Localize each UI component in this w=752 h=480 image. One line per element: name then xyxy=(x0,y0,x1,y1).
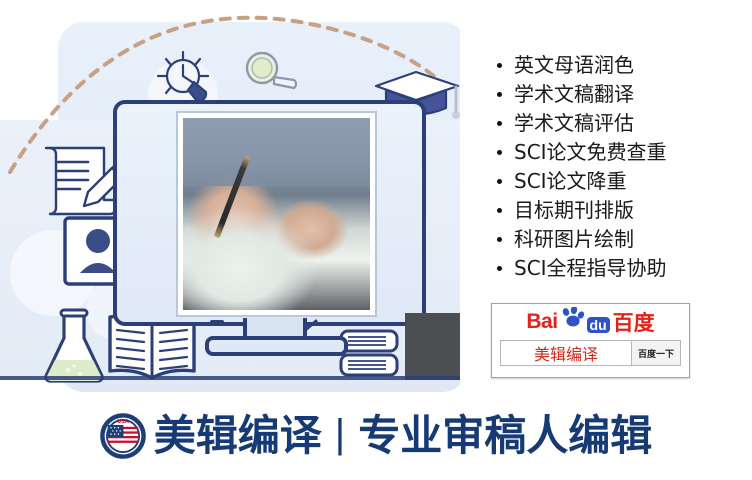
list-item: 科研图片绘制 xyxy=(497,226,747,252)
service-label: 英文母语润色 xyxy=(514,52,634,78)
baidu-logo: Bai du 百度 xyxy=(492,309,689,335)
baidu-logo-du: du xyxy=(587,317,610,333)
service-label: 科研图片绘制 xyxy=(514,226,634,252)
list-item: 目标期刊排版 xyxy=(497,197,747,223)
brand-tagline: 专业审稿人编辑 xyxy=(358,415,652,457)
bullet-icon xyxy=(497,150,502,155)
service-label: 目标期刊排版 xyxy=(514,197,634,223)
writing-hand-photo xyxy=(183,118,370,310)
services-list: 英文母语润色 学术文稿翻译 学术文稿评估 SCI论文免费查重 SCI论文降重 目… xyxy=(497,52,747,284)
list-item: 学术文稿翻译 xyxy=(497,81,747,107)
dark-accent-band xyxy=(405,313,460,380)
service-label: 学术文稿翻译 xyxy=(514,81,634,107)
list-item: SCI全程指导协助 xyxy=(497,255,747,281)
list-item: SCI论文免费查重 xyxy=(497,139,747,165)
list-item: 英文母语润色 xyxy=(497,52,747,78)
illustration-panel xyxy=(0,0,460,392)
floor-line xyxy=(0,376,460,380)
seal-label: USA xyxy=(117,419,129,425)
search-input[interactable]: 美辑编译 xyxy=(500,340,632,366)
bullet-icon xyxy=(497,237,502,242)
baidu-search-row: 美辑编译 百度一下 xyxy=(500,340,681,366)
flask-icon xyxy=(38,308,110,384)
photo-shirt xyxy=(178,114,375,186)
baidu-search-widget[interactable]: Bai du 百度 美辑编译 百度一下 xyxy=(491,303,690,378)
bullet-icon xyxy=(497,266,502,271)
brand-name: 美辑编译 xyxy=(154,415,322,457)
list-item: 学术文稿评估 xyxy=(497,110,747,136)
list-item: SCI论文降重 xyxy=(497,168,747,194)
bullet-icon xyxy=(497,92,502,97)
monitor-led xyxy=(210,320,224,324)
service-label: SCI论文免费查重 xyxy=(514,139,667,165)
service-label: SCI论文降重 xyxy=(514,168,627,194)
seal-emblem-icon: USA xyxy=(100,413,146,459)
magnifier-icon xyxy=(244,50,306,92)
stacked-books-icon xyxy=(338,328,402,380)
poster-root: 英文母语润色 学术文稿翻译 学术文稿评估 SCI论文免费查重 SCI论文降重 目… xyxy=(0,0,752,480)
brand-banner: USA 美辑编译 | 专业审稿人编辑 xyxy=(0,392,752,480)
service-label: SCI全程指导协助 xyxy=(514,255,667,281)
service-label: 学术文稿评估 xyxy=(514,110,634,136)
baidu-logo-bai: Bai xyxy=(526,310,557,334)
bullet-icon xyxy=(497,63,502,68)
bullet-icon xyxy=(497,208,502,213)
search-button[interactable]: 百度一下 xyxy=(632,340,681,366)
bullet-icon xyxy=(497,121,502,126)
monitor-base xyxy=(205,336,348,356)
baidu-paw-icon xyxy=(559,307,585,332)
monitor-screen xyxy=(178,113,375,315)
baidu-logo-cn: 百度 xyxy=(613,307,655,337)
bullet-icon xyxy=(497,179,502,184)
banner-separator: | xyxy=(335,412,345,457)
